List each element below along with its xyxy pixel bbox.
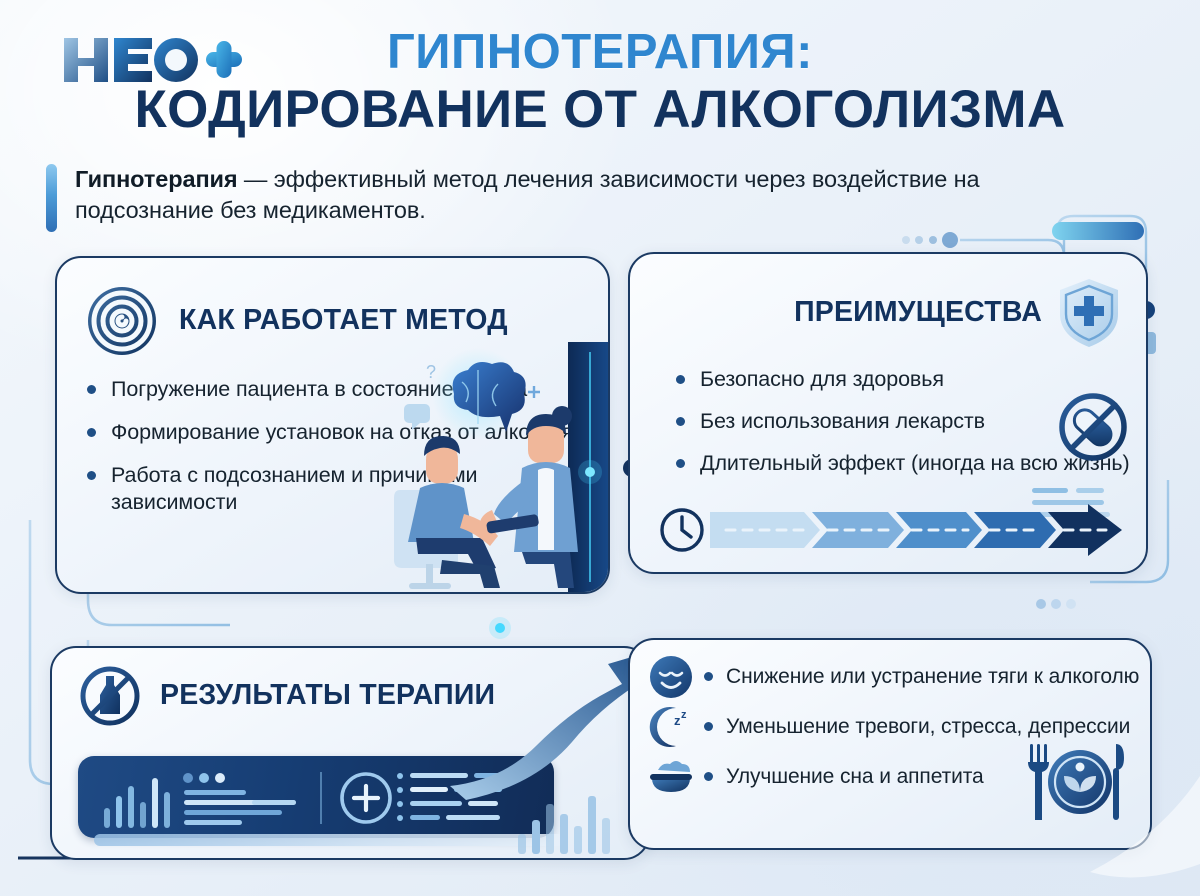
no-pills-icon xyxy=(1056,390,1130,464)
card-title: ПРЕИМУЩЕСТВА xyxy=(794,297,1042,328)
svg-text:?: ? xyxy=(426,362,436,382)
effect-text: Улучшение сна и аппетита xyxy=(704,764,984,790)
corner-swoosh-decoration xyxy=(1050,776,1200,896)
moon-sleep-icon: z z xyxy=(648,704,694,750)
svg-text:z: z xyxy=(681,709,687,721)
card-how-method-works: КАК РАБОТАЕТ МЕТОД Погружение пациента в… xyxy=(55,256,610,594)
therapy-session-illustration: ? xyxy=(382,342,610,592)
title-line-1: ГИПНОТЕРАПИЯ: xyxy=(0,26,1200,79)
page-title: ГИПНОТЕРАПИЯ: КОДИРОВАНИЕ ОТ АЛКОГОЛИЗМА xyxy=(0,26,1200,138)
list-item: Снижение или устранение тяги к алкоголю xyxy=(648,654,1150,700)
panel-underline xyxy=(94,834,564,846)
shield-cross-icon xyxy=(1056,276,1122,350)
infographic-root: ГИПНОТЕРАПИЯ: КОДИРОВАНИЕ ОТ АЛКОГОЛИЗМА… xyxy=(0,0,1200,896)
card-title: КАК РАБОТАЕТ МЕТОД xyxy=(179,305,508,336)
accent-bar xyxy=(46,164,57,232)
card-benefits: ПРЕИМУЩЕСТВА Безопасно для здоровья Без … xyxy=(628,252,1148,574)
bar-chart-decoration xyxy=(518,790,628,854)
circuit-node xyxy=(942,232,958,248)
svg-text:z: z xyxy=(674,713,681,728)
effect-text: Снижение или устранение тяги к алкоголю xyxy=(704,664,1139,690)
subtitle-text: Гипнотерапия — эффективный метод лечения… xyxy=(75,162,1106,232)
title-line-2: КОДИРОВАНИЕ ОТ АЛКОГОЛИЗМА xyxy=(0,81,1200,138)
subtitle-block: Гипнотерапия — эффективный метод лечения… xyxy=(46,162,1106,232)
effect-text: Уменьшение тревоги, стресса, депрессии xyxy=(704,714,1130,740)
card-title: РЕЗУЛЬТАТЫ ТЕРАПИИ xyxy=(160,680,495,711)
no-alcohol-bottle-icon xyxy=(78,664,142,728)
hypnosis-spiral-icon xyxy=(85,284,159,358)
food-bowl-icon xyxy=(648,754,694,800)
duration-timeline-arrow xyxy=(656,504,1126,556)
card-header: ПРЕИМУЩЕСТВА xyxy=(630,254,1146,350)
calm-face-icon xyxy=(648,654,694,700)
subtitle-bold: Гипнотерапия xyxy=(75,166,238,192)
